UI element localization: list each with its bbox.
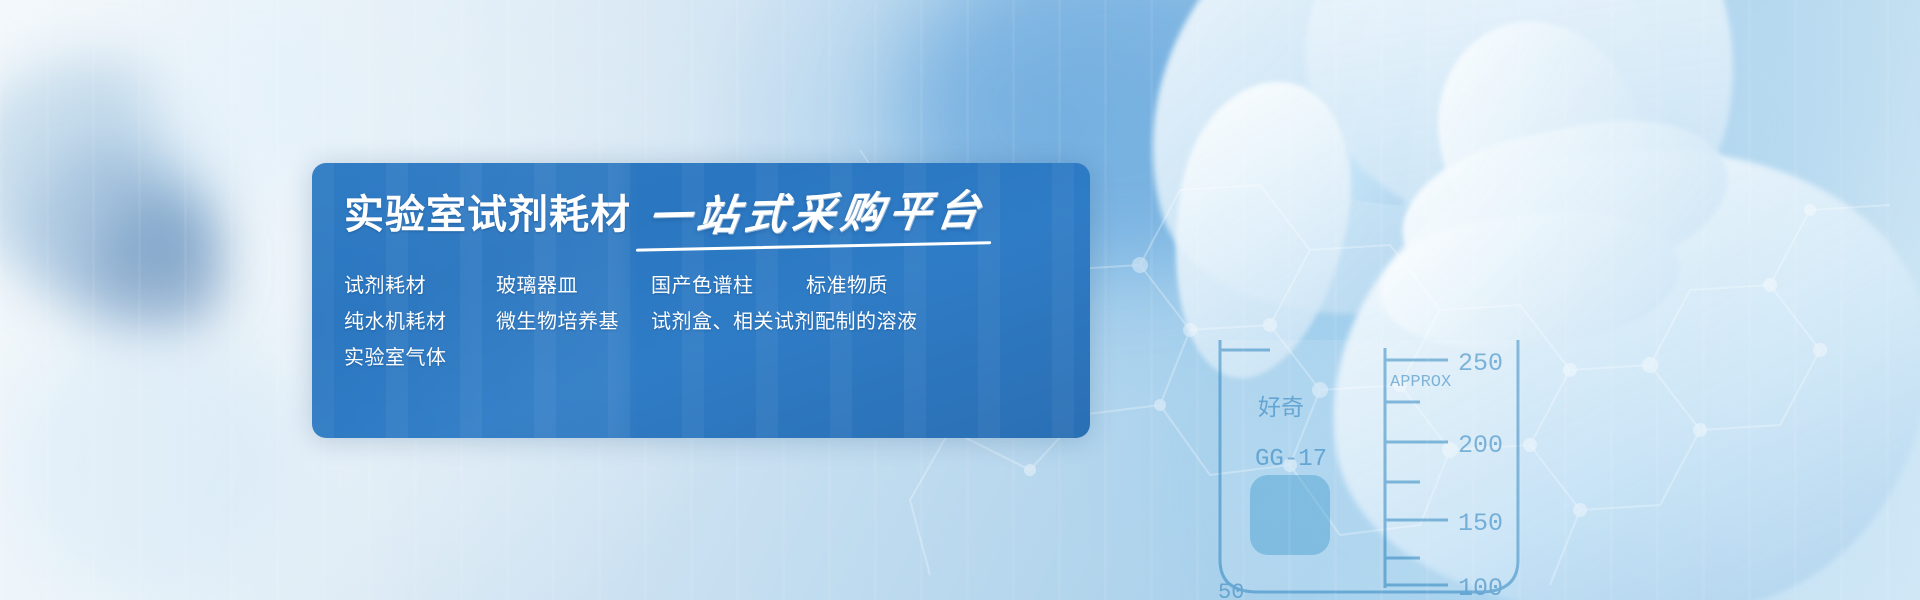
category-item-domestic-chromatography-column[interactable]: 国产色谱柱	[651, 269, 806, 298]
category-row: 纯水机耗材 微生物培养基 试剂盒、相关试剂配制的溶液	[344, 301, 1090, 337]
category-item-reagent-consumables[interactable]: 试剂耗材	[344, 269, 496, 298]
category-row: 试剂耗材 玻璃器皿 国产色谱柱 标准物质	[344, 265, 1090, 301]
category-item-reagent-kit-solutions[interactable]: 试剂盒、相关试剂配制的溶液	[651, 305, 918, 334]
category-list: 试剂耗材 玻璃器皿 国产色谱柱 标准物质 纯水机耗材 微生物培养基 试剂盒、相关…	[344, 265, 1090, 373]
headline-underline	[636, 241, 992, 251]
headline: 实验室试剂耗材 一站式采购平台	[344, 193, 1090, 235]
category-item-glassware[interactable]: 玻璃器皿	[496, 269, 651, 298]
headline-script-label: 一站式采购平台	[645, 185, 989, 241]
headline-main-text: 实验室试剂耗材	[344, 195, 631, 235]
category-row: 实验室气体	[344, 337, 1090, 373]
content-panel: 实验室试剂耗材 一站式采购平台 试剂耗材 玻璃器皿 国产色谱柱 标准物质 纯水机…	[312, 163, 1090, 438]
headline-script-text: 一站式采购平台	[646, 189, 989, 238]
category-item-reference-material[interactable]: 标准物质	[806, 269, 888, 298]
category-item-laboratory-gas[interactable]: 实验室气体	[344, 341, 496, 370]
category-item-microbial-culture-medium[interactable]: 微生物培养基	[496, 305, 651, 334]
category-item-water-purifier-consumables[interactable]: 纯水机耗材	[344, 305, 496, 334]
promo-banner: 250 200 150 100 APPROX GG-17 好奇 50 实验室试剂…	[0, 0, 1920, 600]
